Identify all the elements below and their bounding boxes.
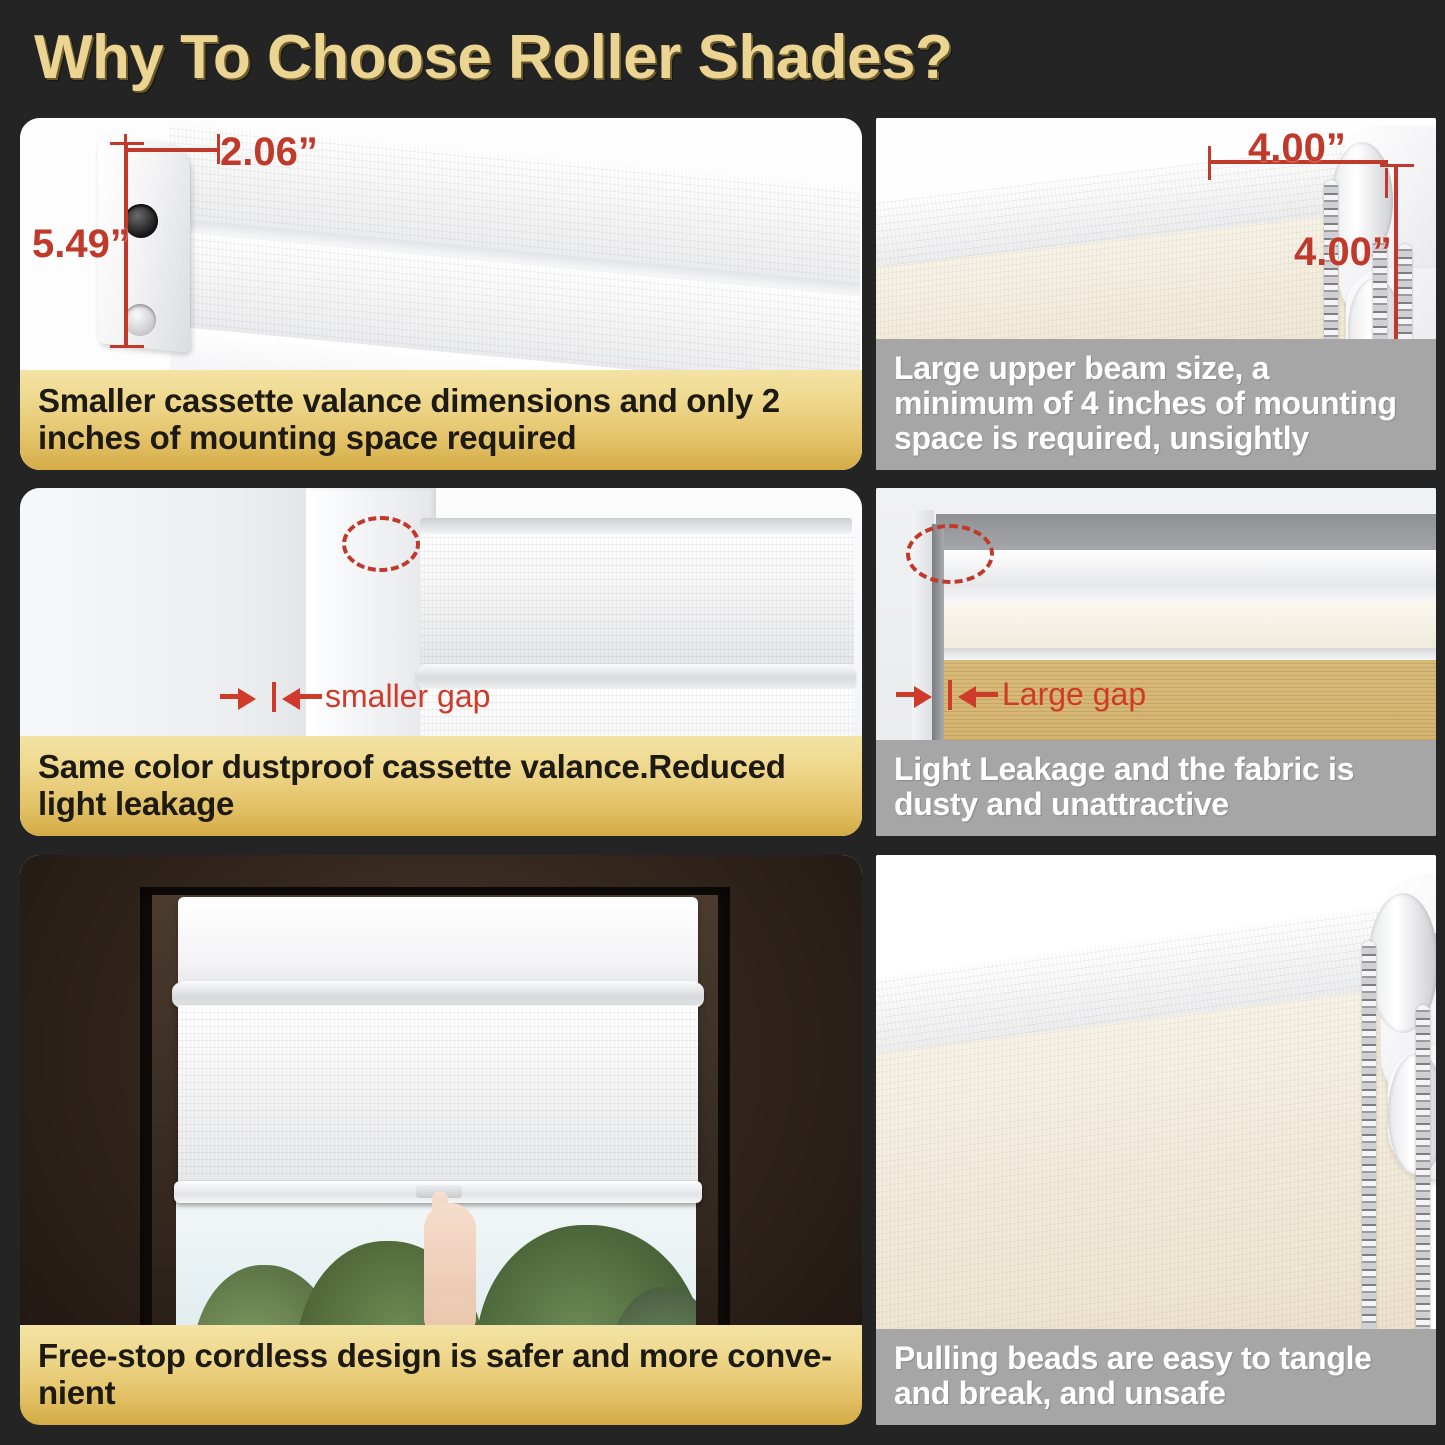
panel-large-beam: 4.00” 4.00” Large upper beam size, a min… [876,118,1436,470]
panel-pulling-beads: ↗ ↖ Pulling beads are easy to tangle and… [876,855,1436,1425]
shade-fabric-upper [420,534,854,664]
shade-fabric [178,1005,698,1195]
panel-dustproof-valance: smaller gap Same color dustproof cassett… [20,488,862,836]
panel-5-caption: Free-stop cordless design is safer and m… [20,1325,862,1425]
annotation-large-gap: Large gap [1002,676,1146,713]
panel-3-caption: Same color dustproof cassette valance.Re… [20,736,862,836]
page-title: Why To Choose Roller Shades? [34,22,1414,94]
infographic-page: Why To Choose Roller Shades? 5.49” 2.06”… [0,0,1445,1445]
gap-arrow-left [914,686,932,708]
bracket-hole-lower [124,304,156,336]
highlight-circle [342,516,420,572]
highlight-circle [906,524,994,584]
panel-cordless-design: Free-stop cordless design is safer and m… [20,855,862,1425]
annotation-smaller-gap: smaller gap [325,678,490,715]
panel-4-caption: Light Leakage and the fabric is dusty an… [876,740,1436,836]
bead-chain-1 [1362,941,1376,1381]
gap-arrow-left [238,688,256,710]
bead-chain-2 [1416,1005,1430,1381]
panel-light-leakage: Large gap Light Leakage and the fabric i… [876,488,1436,836]
panel-2-caption: Large upper beam size, a minimum of 4 in… [876,339,1436,470]
panel-6-caption: Pulling beads are easy to tangle and bre… [876,1329,1436,1425]
upper-beam [922,550,1436,608]
gap-arrow-right [958,686,976,708]
panel-1-caption: Smaller cassette valance dimensions and … [20,370,862,470]
panel-smaller-cassette: 5.49” 2.06” Smaller cassette valance dim… [20,118,862,470]
annotation-height-dimension: 4.00” [1294,230,1392,275]
annotation-width-dimension: 4.00” [1248,126,1346,171]
annotation-height-dimension: 5.49” [32,222,130,267]
cassette-valance [178,897,698,993]
gap-arrow-right [282,688,300,710]
annotation-depth-dimension: 2.06” [220,130,318,175]
